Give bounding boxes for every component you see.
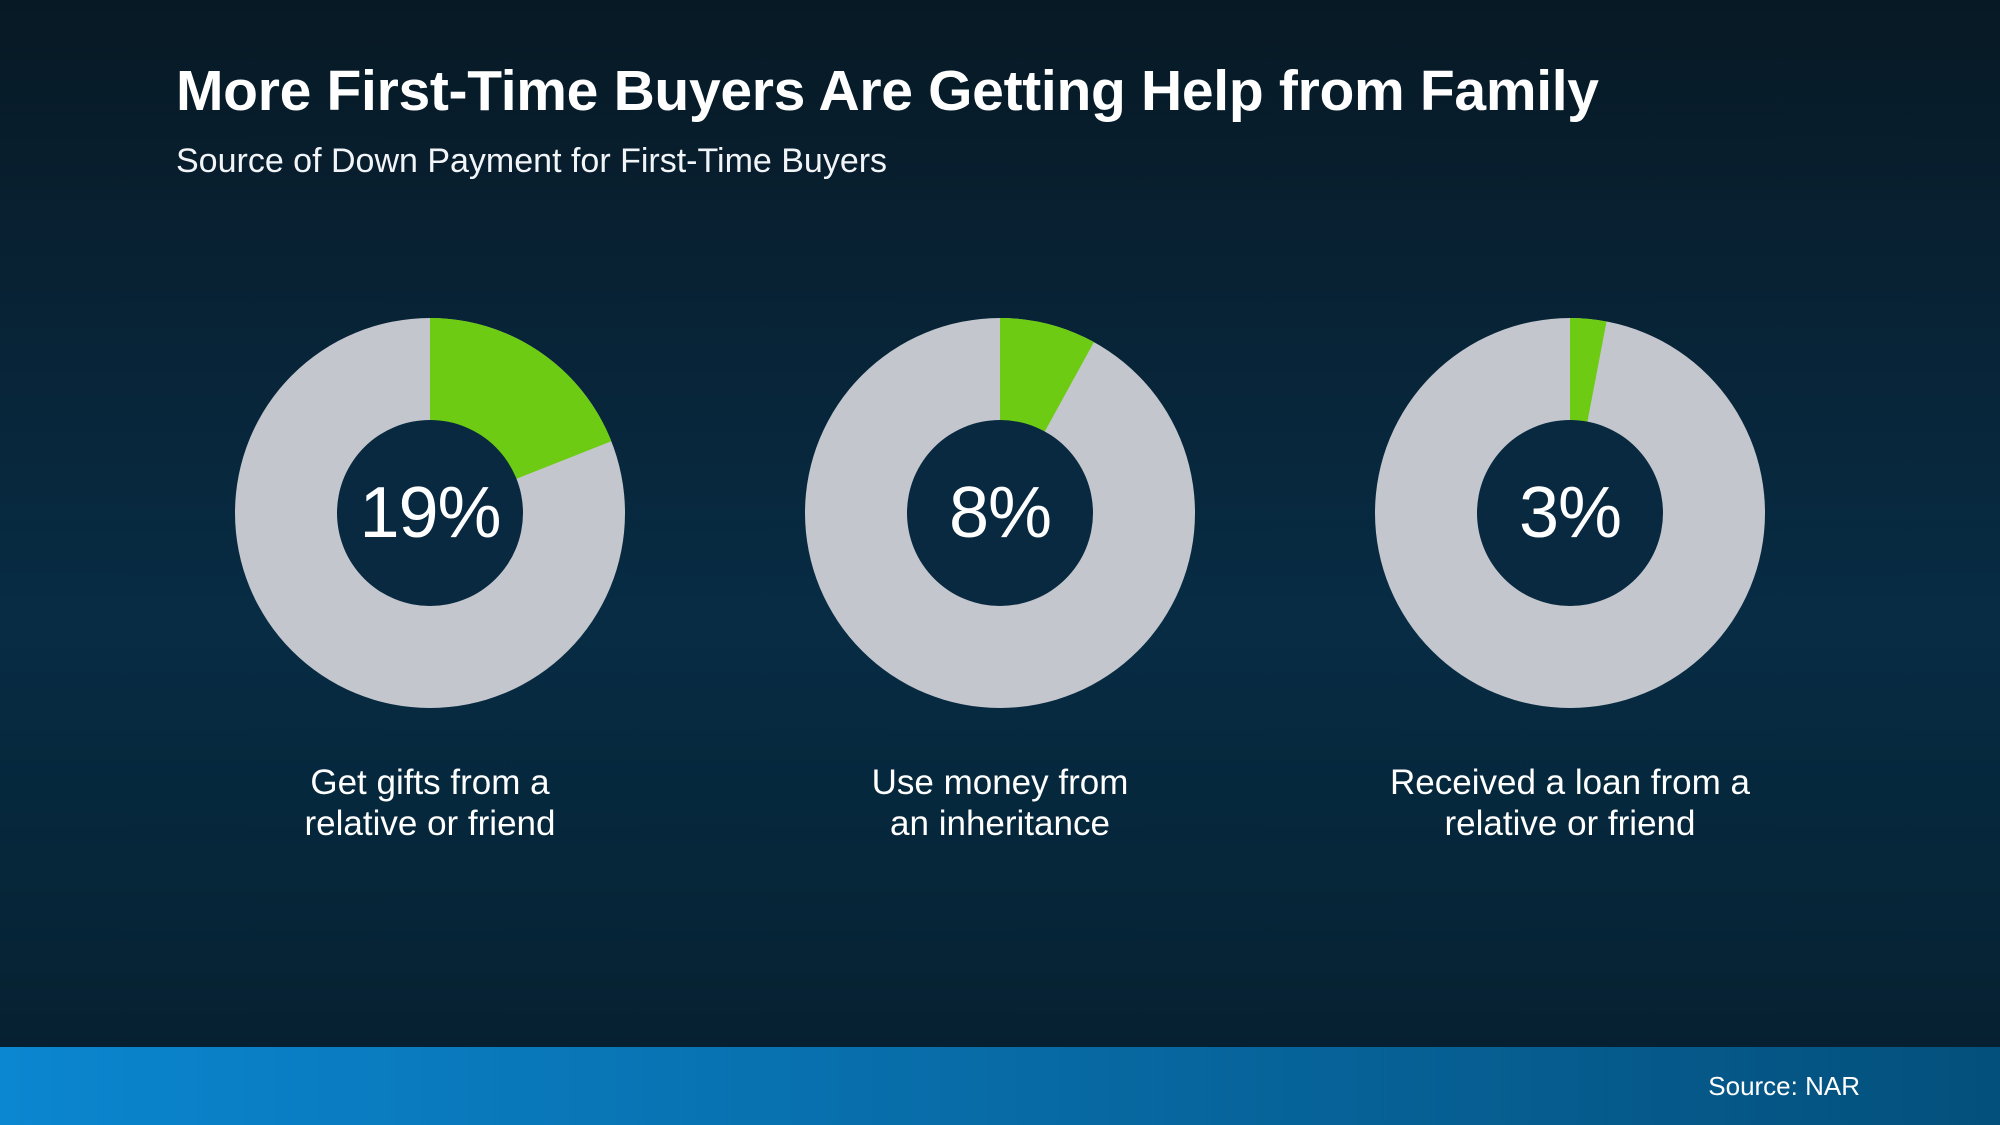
donut-chart-row: 19% Get gifts from a relative or friend … [0,318,2000,845]
donut-chart-3: 3% Received a loan from a relative or fr… [1360,318,1780,845]
donut-hole-1 [337,420,523,606]
donut-caption-1: Get gifts from a relative or friend [305,762,556,845]
page-title: More First-Time Buyers Are Getting Help … [176,60,1856,123]
donut-chart-2: 8% Use money from an inheritance [790,318,1210,845]
page-subtitle: Source of Down Payment for First-Time Bu… [176,141,1856,182]
donut-graphic-3: 3% [1375,318,1765,708]
source-attribution: Source: NAR [1708,1071,1860,1102]
donut-caption-3: Received a loan from a relative or frien… [1390,762,1750,845]
footer-content: Source: NAR [1708,1047,2000,1125]
donut-svg-3 [1375,318,1765,708]
donut-hole-3 [1477,420,1663,606]
donut-chart-1: 19% Get gifts from a relative or friend [220,318,640,845]
donut-graphic-2: 8% [805,318,1195,708]
donut-svg-1 [235,318,625,708]
footer-bar: Source: NAR [0,1047,2000,1125]
donut-svg-2 [805,318,1195,708]
infographic-slide: More First-Time Buyers Are Getting Help … [0,0,2000,1125]
donut-caption-2: Use money from an inheritance [872,762,1129,845]
donut-hole-2 [907,420,1093,606]
header: More First-Time Buyers Are Getting Help … [176,60,1856,181]
donut-graphic-1: 19% [235,318,625,708]
